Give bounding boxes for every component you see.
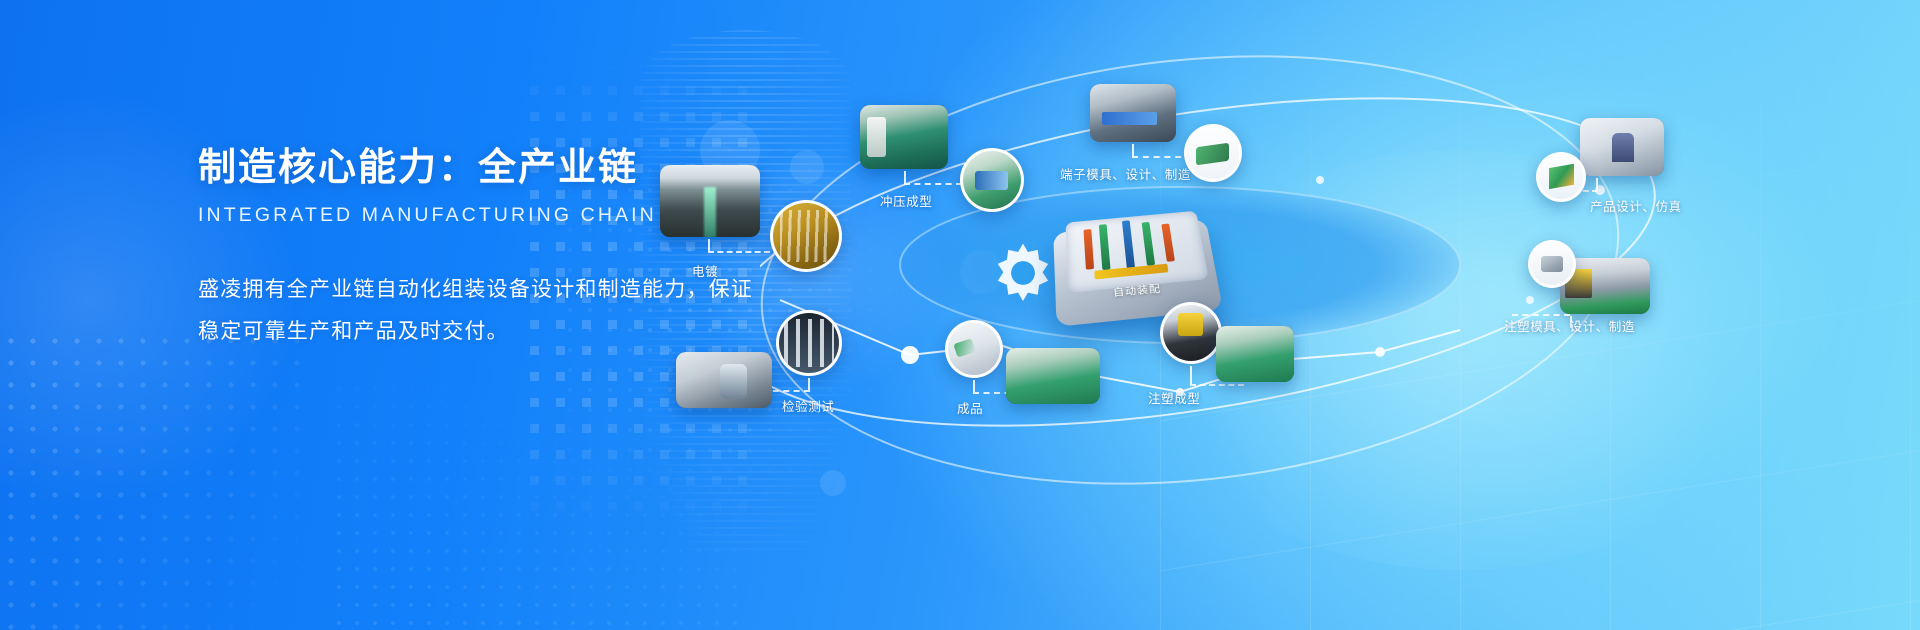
mold-pin xyxy=(1161,224,1175,262)
connector-tick xyxy=(1132,144,1134,156)
connector-dash xyxy=(904,183,962,185)
stamping-thumbnail[interactable] xyxy=(860,105,948,169)
inspection-circle[interactable] xyxy=(776,310,842,376)
node-product-design[interactable]: 产品设计、仿真 xyxy=(1580,118,1664,176)
connector-tick xyxy=(904,171,906,183)
stamping-machine-circle[interactable] xyxy=(960,148,1024,212)
node-caption: 端子模具、设计、制造 xyxy=(1060,164,1191,183)
terminal-mold-thumbnail[interactable] xyxy=(1090,84,1176,142)
connector-tick xyxy=(1190,366,1192,384)
connector-dash xyxy=(1132,156,1192,158)
connector-tick xyxy=(808,378,810,390)
node-caption: 产品设计、仿真 xyxy=(1590,196,1682,215)
connector-dash xyxy=(1190,384,1244,386)
inspection-lab-thumbnail[interactable] xyxy=(676,352,772,408)
node-caption: 注塑模具、设计、制造 xyxy=(1504,316,1635,335)
mold-pin xyxy=(1122,220,1135,269)
node-stamping[interactable]: 冲压成型 xyxy=(860,105,948,169)
product-design-thumbnail[interactable] xyxy=(1580,118,1664,176)
node-terminal-mold[interactable]: 端子模具、设计、制造 xyxy=(1090,84,1176,142)
node-finished-goods[interactable]: 成品 xyxy=(945,320,1003,378)
mold-pin xyxy=(1142,222,1155,266)
mold-pin xyxy=(1083,229,1094,270)
node-injection-forming[interactable]: 注塑成型 xyxy=(1160,302,1222,364)
page-description: 盛凌拥有全产业链自动化组装设备设计和制造能力，保证稳定可靠生产和产品及时交付。 xyxy=(198,269,758,353)
plating-thumbnail[interactable] xyxy=(660,165,760,237)
connector-dash xyxy=(708,251,770,253)
injection-forming-circle[interactable] xyxy=(1160,302,1222,364)
node-inspection[interactable]: 检验测试 xyxy=(776,310,842,376)
node-caption: 成品 xyxy=(957,398,983,417)
orbit-paths xyxy=(760,0,1920,630)
node-caption: 电镀 xyxy=(692,261,718,280)
finished-goods-circle[interactable] xyxy=(945,320,1003,378)
product-design-cube-circle[interactable] xyxy=(1536,152,1586,202)
node-caption: 检验测试 xyxy=(782,396,834,415)
dot-pattern-left xyxy=(0,330,300,630)
injection-forming-thumbnail[interactable] xyxy=(1216,326,1294,382)
mold-pin xyxy=(1099,224,1111,270)
node-caption: 冲压成型 xyxy=(880,191,932,210)
plating-part-circle[interactable] xyxy=(770,200,842,272)
node-plating[interactable]: 电镀 xyxy=(660,165,760,237)
finished-goods-thumbnail[interactable] xyxy=(1006,348,1100,404)
process-chain-diagram: 自动装配 电镀 冲压成型 xyxy=(760,0,1920,630)
terminal-mold-part-circle[interactable] xyxy=(1184,124,1242,182)
connector-tick xyxy=(973,380,975,392)
injection-mold-part-circle[interactable] xyxy=(1528,240,1576,288)
connector-tick xyxy=(708,239,710,251)
node-caption: 注塑成型 xyxy=(1148,388,1200,407)
manufacturing-capability-banner: 制造核心能力：全产业链 INTEGRATED MANUFACTURING CHA… xyxy=(0,0,1920,630)
dot-pattern-bottom xyxy=(330,380,750,630)
connector-tick xyxy=(1596,178,1598,190)
